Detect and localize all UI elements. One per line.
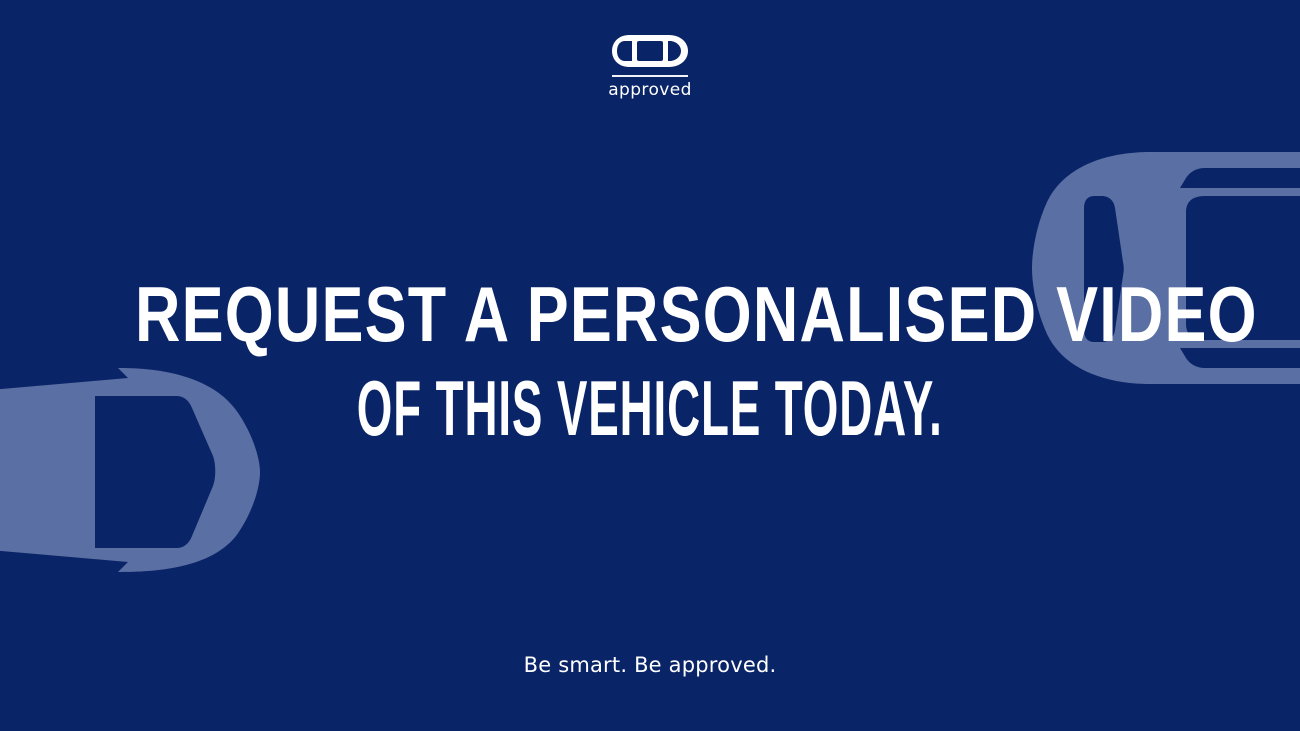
headline-line-2: OF THIS VEHICLE TODAY. <box>357 366 943 450</box>
logo-divider <box>612 75 688 77</box>
promo-slide: approved REQUEST A PERSONALISED VIDEO OF… <box>0 0 1300 731</box>
logo-wordmark: approved <box>608 82 692 99</box>
tagline: Be smart. Be approved. <box>0 655 1300 676</box>
headline-line-1: REQUEST A PERSONALISED VIDEO <box>135 272 1258 356</box>
headline: REQUEST A PERSONALISED VIDEO OF THIS VEH… <box>0 272 1300 450</box>
brand-logo: approved <box>0 34 1300 99</box>
car-top-view-icon <box>611 34 689 68</box>
